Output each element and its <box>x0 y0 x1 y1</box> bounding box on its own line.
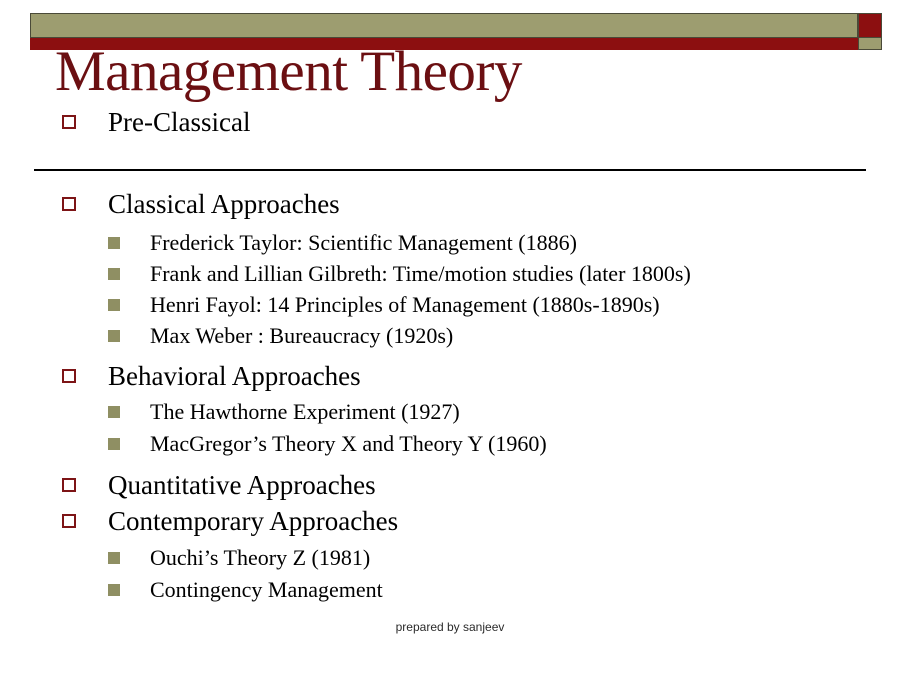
bullet-row-level1: Contemporary Approaches <box>62 505 398 537</box>
bullet-row-level2: Max Weber : Bureaucracy (1920s) <box>108 322 453 349</box>
filled-square-bullet-icon <box>108 268 120 280</box>
bullet-row-level2: MacGregor’s Theory X and Theory Y (1960) <box>108 430 547 457</box>
bullet-text: The Hawthorne Experiment (1927) <box>150 398 460 425</box>
slide-footer: prepared by sanjeev <box>0 620 900 634</box>
filled-square-bullet-icon <box>108 406 120 418</box>
filled-square-bullet-icon <box>108 584 120 596</box>
bullet-row-level1: Pre-Classical <box>62 106 250 138</box>
bullet-text: Contingency Management <box>150 576 383 603</box>
filled-square-bullet-icon <box>108 299 120 311</box>
bullet-row-level1: Classical Approaches <box>62 188 340 220</box>
bullet-row-level2: Frank and Lillian Gilbreth: Time/motion … <box>108 260 691 287</box>
bullet-text: Frank and Lillian Gilbreth: Time/motion … <box>150 260 691 287</box>
hollow-square-bullet-icon <box>62 369 76 383</box>
bullet-row-level2: Henri Fayol: 14 Principles of Management… <box>108 291 660 318</box>
banner-olive-bar <box>30 13 858 38</box>
filled-square-bullet-icon <box>108 237 120 249</box>
bullet-row-level2: Ouchi’s Theory Z (1981) <box>108 544 370 571</box>
bullet-row-level1: Quantitative Approaches <box>62 469 376 501</box>
bullet-text: Max Weber : Bureaucracy (1920s) <box>150 322 453 349</box>
bullet-text: MacGregor’s Theory X and Theory Y (1960) <box>150 430 547 457</box>
bullet-text: Quantitative Approaches <box>108 469 376 501</box>
hollow-square-bullet-icon <box>62 478 76 492</box>
bullet-text: Frederick Taylor: Scientific Management … <box>150 229 577 256</box>
slide-title: Management Theory <box>55 42 522 102</box>
filled-square-bullet-icon <box>108 330 120 342</box>
bullet-row-level2: Frederick Taylor: Scientific Management … <box>108 229 577 256</box>
hollow-square-bullet-icon <box>62 197 76 211</box>
section-divider <box>34 169 866 171</box>
hollow-square-bullet-icon <box>62 115 76 129</box>
bullet-text: Ouchi’s Theory Z (1981) <box>150 544 370 571</box>
bullet-row-level2: The Hawthorne Experiment (1927) <box>108 398 460 425</box>
bullet-text: Pre-Classical <box>108 106 250 138</box>
bullet-row-level1: Behavioral Approaches <box>62 360 361 392</box>
banner-olive-square <box>858 38 882 50</box>
bullet-text: Behavioral Approaches <box>108 360 361 392</box>
bullet-text: Classical Approaches <box>108 188 340 220</box>
bullet-text: Contemporary Approaches <box>108 505 398 537</box>
bullet-row-level2: Contingency Management <box>108 576 383 603</box>
bullet-text: Henri Fayol: 14 Principles of Management… <box>150 291 660 318</box>
slide-canvas: Management Theory Pre-ClassicalClassical… <box>0 0 900 675</box>
hollow-square-bullet-icon <box>62 514 76 528</box>
filled-square-bullet-icon <box>108 438 120 450</box>
banner-red-square <box>858 13 882 38</box>
filled-square-bullet-icon <box>108 552 120 564</box>
